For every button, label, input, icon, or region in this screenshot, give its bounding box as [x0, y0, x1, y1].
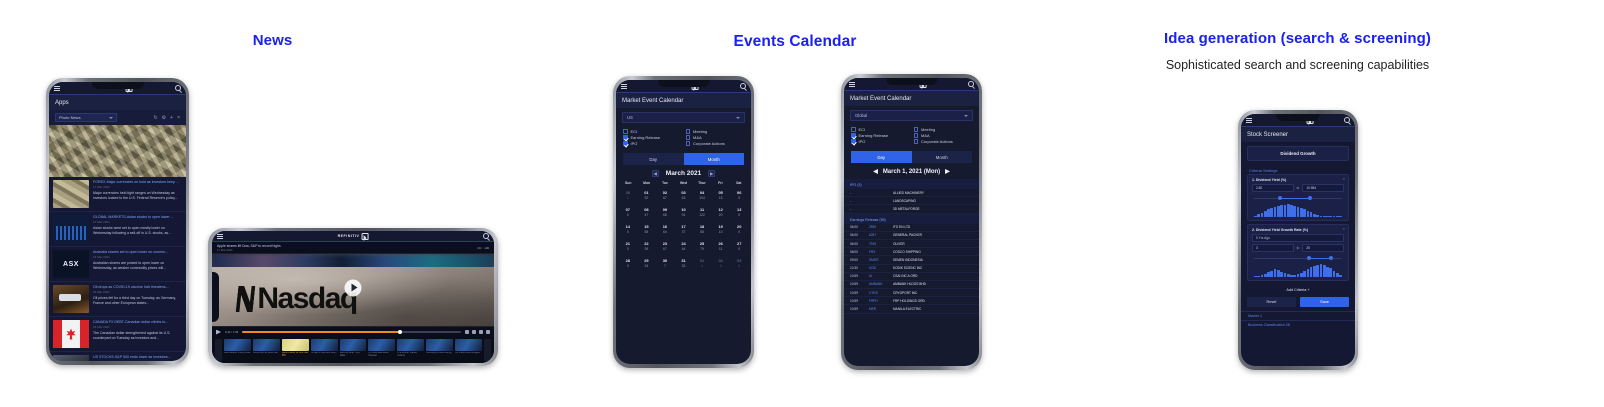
calendar-day-cell[interactable]: 014 [693, 255, 711, 271]
playlist-item[interactable]: Asia markets mostly lower [224, 339, 251, 361]
criterion-min-input[interactable]: 3 [1252, 244, 1294, 252]
event-count: 58 [644, 230, 648, 234]
criterion-max-input[interactable]: 10.954 [1302, 184, 1344, 192]
criterion-label: 2. Dividend Yield Growth Rate (%) [1252, 228, 1344, 232]
event-row[interactable]: 10:59AMBANKAMBANK HLDGS BHD [844, 281, 979, 289]
criterion-range-slider[interactable] [1254, 195, 1342, 202]
day-number: 17 [681, 224, 685, 229]
play-button[interactable] [345, 279, 362, 296]
event-count: 104 [699, 196, 705, 200]
news-toolbar-icons: ↻ ⚙ + × [153, 115, 180, 121]
range-to-label: to [1297, 246, 1300, 250]
calendar-day-cell[interactable]: 070 [619, 204, 637, 220]
day-number: 10 [681, 207, 685, 212]
criterion-label: 1. Dividend Yield (%) [1252, 178, 1344, 182]
filter-corporate-actions[interactable]: Corporate Actions [914, 139, 973, 144]
day-number: 21 [626, 241, 630, 246]
filter-meeting[interactable]: Meeting [914, 127, 973, 132]
event-row[interactable]: 10:59AICSAI INC A ORD [844, 273, 979, 281]
search-icon[interactable] [1344, 117, 1350, 123]
page-title: Apps [49, 95, 186, 110]
filter-label: Earning Release [631, 135, 661, 140]
calendar-day-cell[interactable]: 020 [712, 255, 730, 271]
playlist-item[interactable]: US Jobs data beats forecast [368, 339, 395, 361]
page-title: Market Event Calendar [844, 91, 979, 106]
calendar-day-cell[interactable]: 130 [730, 204, 748, 220]
event-count: 37 [682, 230, 686, 234]
calendar-day-cell[interactable]: 2934 [638, 255, 656, 271]
article-time: 16 Mar 2021 [93, 290, 182, 294]
checkbox-icon[interactable] [686, 135, 691, 140]
region-value: US [627, 115, 633, 120]
calendar-day-cell[interactable]: 0515 [712, 187, 730, 203]
event-company: CSAI INC A ORD [893, 274, 973, 278]
event-ticker[interactable]: FRX [869, 250, 889, 254]
day-number: 13 [737, 207, 741, 212]
play-icon[interactable] [216, 330, 221, 335]
article-headline: CANADA FX DEBT-Canadian dollar climbs to… [93, 320, 182, 324]
refinitiv-topbar: REFINITIV [212, 231, 494, 242]
article-summary: Asian stocks were set to open mostly low… [93, 226, 182, 235]
event-row[interactable]: 06:002590ITO EN LTD [844, 224, 979, 232]
news-source-select[interactable]: Photo News [55, 113, 117, 122]
add-icon[interactable]: + [170, 115, 173, 121]
criterion-period-select[interactable]: 5 Yrs Ago [1252, 234, 1344, 242]
day-number: 02 [718, 258, 722, 263]
event-row[interactable]: -LANDSCAPING [844, 197, 979, 205]
event-ticker[interactable]: 7919 [869, 242, 889, 246]
event-ticker[interactable]: 2590 [869, 225, 889, 229]
event-count: 0 [738, 213, 740, 217]
event-time: 10:30 [850, 266, 865, 270]
event-ticker[interactable]: 6267 [869, 233, 889, 237]
notch [1276, 114, 1319, 121]
close-icon[interactable]: × [177, 115, 180, 121]
criterion-range: 2.60to10.954 [1252, 184, 1344, 192]
event-count: 44 [682, 247, 686, 251]
footer-filter-market[interactable]: Market 1 [1241, 311, 1355, 320]
volume-icon[interactable] [465, 330, 469, 334]
event-row[interactable]: 10:59FRPHFRP HOLDINGS ORD [844, 297, 979, 305]
region-select[interactable]: US [622, 112, 745, 123]
prev-day-button[interactable]: ◀ [873, 168, 878, 175]
event-ticker[interactable]: SMGR [869, 258, 889, 262]
list-item[interactable]: ASX Australia shares set to open lower o… [49, 247, 186, 282]
list-item[interactable]: FOREX-Major currencies on hold as invest… [49, 177, 186, 212]
event-ticker[interactable]: AI [869, 274, 889, 278]
hamburger-menu-icon[interactable] [217, 234, 223, 239]
event-company: KODIK SCIENC INC [893, 266, 973, 270]
search-icon[interactable] [175, 85, 181, 91]
tab-month[interactable]: Month [684, 153, 745, 165]
calendar-grid: 2810192026703630410405150600700847096810… [616, 187, 751, 271]
filter-label: IPO [859, 139, 866, 144]
calendar-day-cell[interactable]: 2239 [638, 238, 656, 254]
list-item[interactable]: US STOCKS-S&P 500 ends lower as investor… [49, 352, 186, 361]
video-stage[interactable]: Nasdaq [212, 254, 494, 326]
criterion-block: ×2. Dividend Yield Growth Rate (%)5 Yrs … [1247, 224, 1349, 281]
calendar-day-cell[interactable]: 2444 [675, 238, 693, 254]
criterion-min-input[interactable]: 2.60 [1252, 184, 1294, 192]
event-company: OLIVER [893, 242, 973, 246]
search-icon[interactable] [483, 233, 489, 239]
phone-news: REFINITIV Apps Photo News ↻ ⚙ + × [46, 78, 189, 365]
event-row[interactable]: -ALLIED MACHINERY [844, 189, 979, 197]
article-thumbnail [53, 215, 89, 243]
video-playlist: Asia markets mostly lower Stocks slip as… [212, 337, 494, 363]
weekday: Sat [730, 181, 748, 185]
playlist-prev-button[interactable] [215, 339, 222, 361]
hamburger-menu-icon[interactable] [54, 86, 60, 91]
calendar-day-cell[interactable]: 1858 [693, 221, 711, 237]
calendar-day-cell[interactable]: 2579 [693, 238, 711, 254]
event-count: 64 [663, 230, 667, 234]
checkbox-icon[interactable] [914, 127, 919, 132]
next-month-button[interactable]: ▶ [708, 170, 715, 177]
calendar-day-cell[interactable]: 1664 [656, 221, 674, 237]
phone-calendar-day-screen: REFINITIV Market Event Calendar Global E… [844, 78, 979, 366]
news-list: FOREX-Major currencies on hold as invest… [49, 177, 186, 361]
notch [212, 272, 219, 322]
filter-ipo[interactable]: IPO [623, 141, 682, 146]
calendar-day-cell[interactable]: 0192 [638, 187, 656, 203]
checkbox-icon[interactable] [623, 129, 628, 134]
filter-label: ECI [631, 129, 638, 134]
view-tabs: Day Month [623, 153, 744, 165]
checkbox-icon[interactable] [686, 129, 691, 134]
criterion-distribution-histogram [1254, 204, 1342, 217]
section-subtitle-idea: Sophisticated search and screening capab… [1130, 58, 1465, 72]
day-number: 03 [737, 258, 741, 263]
event-time: 10:59 [850, 291, 865, 295]
playlist-caption: Apple shares lift Dow S&P 500 [282, 352, 309, 358]
news-toolbar: Photo News ↻ ⚙ + × [49, 110, 186, 125]
weekday: Mon [637, 181, 655, 185]
closed-caption-icon[interactable]: CC [477, 246, 481, 250]
checkbox-icon-checked[interactable] [623, 141, 628, 146]
calendar-day-cell[interactable]: 140 [619, 221, 637, 237]
chevron-down-icon [109, 117, 113, 119]
video-controls: 0:42 / 1:58 [212, 326, 494, 337]
article-thumbnail: ASX [53, 250, 89, 278]
calendar-day-cell[interactable]: 030 [730, 255, 748, 271]
day-number: 23 [663, 241, 667, 246]
video-title-bar: Apple shares lift Dow, S&P to record hig… [212, 242, 494, 254]
footer-filter-classification[interactable]: Business Classification 28 [1241, 320, 1355, 329]
day-number: 28 [626, 258, 630, 263]
next-day-button[interactable]: ▶ [945, 168, 950, 175]
hamburger-menu-icon[interactable] [1246, 118, 1252, 123]
hamburger-menu-icon[interactable] [849, 82, 855, 87]
day-number: 18 [700, 224, 704, 229]
day-number: 04 [700, 190, 704, 195]
event-company: MANILA ELECTRIC [893, 307, 973, 311]
nasdaq-logo: Nasdaq [237, 284, 356, 314]
playlist-item[interactable]: Evening Wrap: Tech slides [340, 339, 367, 361]
remove-criterion-icon[interactable]: × [1343, 227, 1345, 231]
action-buttons: Reset Save [1247, 297, 1349, 307]
chevron-down-icon [964, 115, 968, 117]
event-row[interactable]: 09:00SMGRSEMEN INDONESIA [844, 256, 979, 264]
event-count: 0 [738, 230, 740, 234]
event-count: 15 [719, 196, 723, 200]
event-row[interactable]: -3D METALFORGE [844, 205, 979, 213]
checkbox-icon-checked[interactable] [623, 135, 628, 140]
day-number: 14 [626, 224, 630, 229]
article-thumbnail [53, 320, 89, 348]
event-count: 11 [719, 247, 723, 251]
calendar-day-cell[interactable]: 060 [730, 187, 748, 203]
calendar-day-cell[interactable]: 1910 [712, 221, 730, 237]
event-row[interactable]: 10:59MERMANILA ELECTRIC [844, 305, 979, 313]
event-count: 92 [644, 196, 648, 200]
calendar-day-cell[interactable]: 1091 [675, 204, 693, 220]
list-item[interactable]: CANADA FX DEBT-Canadian dollar climbs to… [49, 317, 186, 352]
article-thumbnail [53, 285, 89, 313]
fullscreen-icon[interactable] [486, 330, 490, 334]
filter-corporate-actions[interactable]: Corporate Actions [686, 141, 745, 146]
event-count: 34 [644, 264, 648, 268]
slider-handle-min[interactable] [1307, 256, 1311, 260]
day-number: 29 [644, 258, 648, 263]
event-row[interactable]: 10:59CYRXCRYOPORT INC [844, 289, 979, 297]
settings-icon[interactable]: ⚙ [162, 115, 166, 121]
page-title: Stock Screener [1241, 127, 1355, 142]
playlist-item[interactable]: Oil falls on demand worry [311, 339, 338, 361]
day-number: 06 [737, 190, 741, 195]
prev-month-button[interactable]: ◀ [652, 170, 659, 177]
article-headline: US STOCKS-S&P 500 ends lower as investor… [93, 355, 182, 359]
criterion-max-input[interactable]: 25 [1302, 244, 1344, 252]
checkbox-icon[interactable] [914, 139, 919, 144]
calendar-day-cell[interactable]: 11122 [693, 204, 711, 220]
event-row[interactable]: 06:007919OLIVER [844, 240, 979, 248]
refinitiv-logo: REFINITIV [338, 233, 369, 240]
video-timestamp: 17 Mar 2021 [217, 248, 281, 252]
calendar-day-cell[interactable]: 0968 [656, 204, 674, 220]
article-summary: Australian shares are poised to open low… [93, 261, 182, 270]
slider-handle-min[interactable] [1278, 196, 1282, 200]
news-hero-image[interactable] [49, 125, 186, 177]
day-number: 05 [718, 190, 722, 195]
playlist-item[interactable]: UK shares decline again [455, 339, 482, 361]
calendar-day-cell[interactable]: 210 [619, 238, 637, 254]
notch [658, 80, 709, 87]
filter-ma[interactable]: M&A [914, 133, 973, 138]
reset-button[interactable]: Reset [1247, 297, 1296, 307]
event-filters: ECI Meeting Earning Release M&A IPO Corp… [844, 125, 979, 148]
event-ticker[interactable]: MER [869, 307, 889, 311]
add-criteria-button[interactable]: Add Criteria + [1241, 284, 1355, 297]
playlist-caption: Investing in clean energy [426, 352, 453, 355]
playlist-caption: In a Minute: Market movers [397, 352, 424, 358]
filter-earning-release[interactable]: Earning Release [851, 133, 910, 138]
video-progress-slider[interactable] [242, 331, 461, 333]
article-summary: Major currencies held tight ranges on We… [93, 191, 182, 200]
day-number: 16 [663, 224, 667, 229]
calendar-day-cell[interactable]: 200 [730, 221, 748, 237]
calendar-day-cell[interactable]: 1220 [712, 204, 730, 220]
filter-ma[interactable]: M&A [686, 135, 745, 140]
video-control-icons [465, 330, 490, 334]
calendar-day-cell[interactable]: 0363 [675, 187, 693, 203]
playlist-item[interactable]: Investing in clean energy [426, 339, 453, 361]
phone-stock-screener-screen: REFINITIV Stock Screener Dividend Growth… [1241, 114, 1355, 366]
criterion-distribution-histogram [1254, 264, 1342, 277]
playlist-item[interactable]: Stocks slip as yields rise [253, 339, 280, 361]
settings-icon[interactable] [472, 330, 476, 334]
search-icon[interactable] [968, 81, 974, 87]
event-count: 0 [627, 264, 629, 268]
calendar-day-cell[interactable]: 280 [619, 255, 637, 271]
event-ticker[interactable]: CYRX [869, 291, 889, 295]
list-item[interactable]: GLOBAL MARKETS-Asian stocks to open lowe… [49, 212, 186, 247]
save-button[interactable]: Save [1300, 297, 1349, 307]
calendar-day-cell[interactable]: 0267 [656, 187, 674, 203]
event-company: AMBANK HLDGS BHD [893, 282, 973, 286]
tab-month[interactable]: Month [912, 151, 973, 163]
period-navigator: ◀ March 2021 ▶ [616, 165, 751, 181]
nasdaq-wordmark: Nasdaq [257, 284, 356, 314]
hamburger-menu-icon[interactable] [621, 84, 627, 89]
criterion-range-slider[interactable] [1254, 255, 1342, 262]
day-number: 12 [718, 207, 722, 212]
calendar-day-cell[interactable]: 1558 [638, 221, 656, 237]
day-number: 28 [626, 190, 630, 195]
calendar-day-cell[interactable]: 281 [619, 187, 637, 203]
checkbox-icon[interactable] [686, 141, 691, 146]
event-time: - [850, 191, 865, 195]
search-icon[interactable] [740, 83, 746, 89]
event-ticker[interactable]: FRPH [869, 299, 889, 303]
filter-ipo[interactable]: IPO [851, 139, 910, 144]
event-count: 20 [719, 213, 723, 217]
calendar-day-cell[interactable]: 0847 [638, 204, 656, 220]
notch [91, 82, 143, 89]
event-time: 06:00 [850, 225, 865, 229]
checkbox-icon[interactable] [851, 127, 856, 132]
calendar-day-cell[interactable]: 307 [656, 255, 674, 271]
event-count: 67 [663, 247, 667, 251]
weekday: Tue [656, 181, 674, 185]
filter-eci[interactable]: ECI [851, 127, 910, 132]
hd-quality-icon[interactable]: HD [485, 246, 489, 250]
event-company: COSCO SHIPPING [893, 250, 973, 254]
day-number: 01 [644, 190, 648, 195]
event-time: 09:00 [850, 258, 865, 262]
playlist-caption: UK shares decline again [455, 352, 482, 355]
filter-earning-release[interactable]: Earning Release [623, 135, 682, 140]
pip-icon[interactable] [479, 330, 483, 334]
checkbox-icon-checked[interactable] [851, 139, 856, 144]
calendar-day-cell[interactable]: 1737 [675, 221, 693, 237]
article-thumbnail [53, 180, 89, 208]
day-number: 03 [681, 190, 685, 195]
range-to-label: to [1297, 186, 1300, 190]
calendar-day-cell[interactable]: 04104 [693, 187, 711, 203]
slider-handle-max[interactable] [1308, 196, 1312, 200]
article-headline: FOREX-Major currencies on hold as invest… [93, 180, 182, 184]
remove-criterion-icon[interactable]: × [1343, 177, 1345, 181]
event-count: 0 [738, 264, 740, 268]
day-number: 15 [644, 224, 648, 229]
event-count: 0 [627, 213, 629, 217]
refinitiv-mark-icon [361, 233, 368, 240]
section-title-events: Events Calendar [690, 33, 900, 51]
event-count: 0 [720, 264, 722, 268]
event-time: 10:59 [850, 307, 865, 311]
event-group-header: IPO (3) [844, 179, 979, 189]
calendar-day-cell[interactable]: 2367 [656, 238, 674, 254]
playlist-item[interactable]: In a Minute: Market movers [397, 339, 424, 361]
event-count: 0 [738, 247, 740, 251]
slider-handle-max[interactable] [1329, 256, 1333, 260]
article-time: 16 Mar 2021 [93, 255, 182, 259]
event-row[interactable]: 06:006267GENERAL PACKER [844, 232, 979, 240]
filter-eci[interactable]: ECI [623, 129, 682, 134]
phone-calendar-month: REFINITIV Market Event Calendar US ECI M… [613, 76, 754, 368]
playlist-item-selected[interactable]: Apple shares lift Dow S&P 500 [282, 339, 309, 361]
playlist-caption: Evening Wrap: Tech slides [340, 352, 367, 358]
event-ticker[interactable]: KOD [869, 266, 889, 270]
day-number: 26 [718, 241, 722, 246]
playlist-next-button[interactable] [484, 339, 491, 361]
event-count: 7 [664, 264, 666, 268]
event-company: FRP HOLDINGS ORD [893, 299, 973, 303]
article-time: 16 Mar 2021 [93, 325, 182, 329]
filter-label: M&A [921, 133, 930, 138]
checkbox-icon[interactable] [914, 133, 919, 138]
event-count: 79 [700, 247, 704, 251]
article-headline: Oil drops as COVID-19 vaccine halt threa… [93, 285, 182, 289]
event-time: 10:59 [850, 299, 865, 303]
progress-handle[interactable] [398, 330, 402, 334]
calendar-day-cell[interactable]: 270 [730, 238, 748, 254]
event-count: 67 [663, 196, 667, 200]
screen-name-card[interactable]: Dividend Growth [1247, 146, 1349, 161]
filter-label: Earning Release [859, 133, 889, 138]
event-ticker[interactable]: AMBANK [869, 282, 889, 286]
event-count: 47 [644, 213, 648, 217]
article-summary: Oil prices fell for a third day on Tuesd… [93, 296, 182, 305]
day-number: 01 [700, 258, 704, 263]
day-number: 11 [700, 207, 704, 212]
refresh-icon[interactable]: ↻ [153, 115, 157, 121]
list-item[interactable]: Oil drops as COVID-19 vaccine halt threa… [49, 282, 186, 317]
article-headline: GLOBAL MARKETS-Asian stocks to open lowe… [93, 215, 182, 219]
calendar-day-cell[interactable]: 3133 [675, 255, 693, 271]
article-summary: The Canadian dollar strengthened against… [93, 331, 182, 340]
phone-calendar-day: REFINITIV Market Event Calendar Global E… [841, 74, 982, 370]
event-filters: ECI Meeting Earning Release M&A IPO Corp… [616, 127, 751, 150]
calendar-day-cell[interactable]: 2611 [712, 238, 730, 254]
event-time: 06:00 [850, 233, 865, 237]
region-select[interactable]: Global [850, 110, 973, 121]
event-row[interactable]: 08:00FRXCOSCO SHIPPING [844, 248, 979, 256]
checkbox-icon-checked[interactable] [851, 133, 856, 138]
event-count: 0 [738, 196, 740, 200]
tab-day[interactable]: Day [623, 153, 684, 165]
event-company: LANDSCAPING [893, 199, 973, 203]
event-count: 10 [719, 230, 723, 234]
event-row[interactable]: 10:30KODKODIK SCIENC INC [844, 265, 979, 273]
phone-video-screen: REFINITIV Apple shares lift Dow, S&P to … [212, 231, 494, 363]
day-number: 19 [718, 224, 722, 229]
filter-label: IPO [631, 141, 638, 146]
filter-meeting[interactable]: Meeting [686, 129, 745, 134]
tab-day[interactable]: Day [851, 151, 912, 163]
article-thumbnail [53, 355, 89, 361]
